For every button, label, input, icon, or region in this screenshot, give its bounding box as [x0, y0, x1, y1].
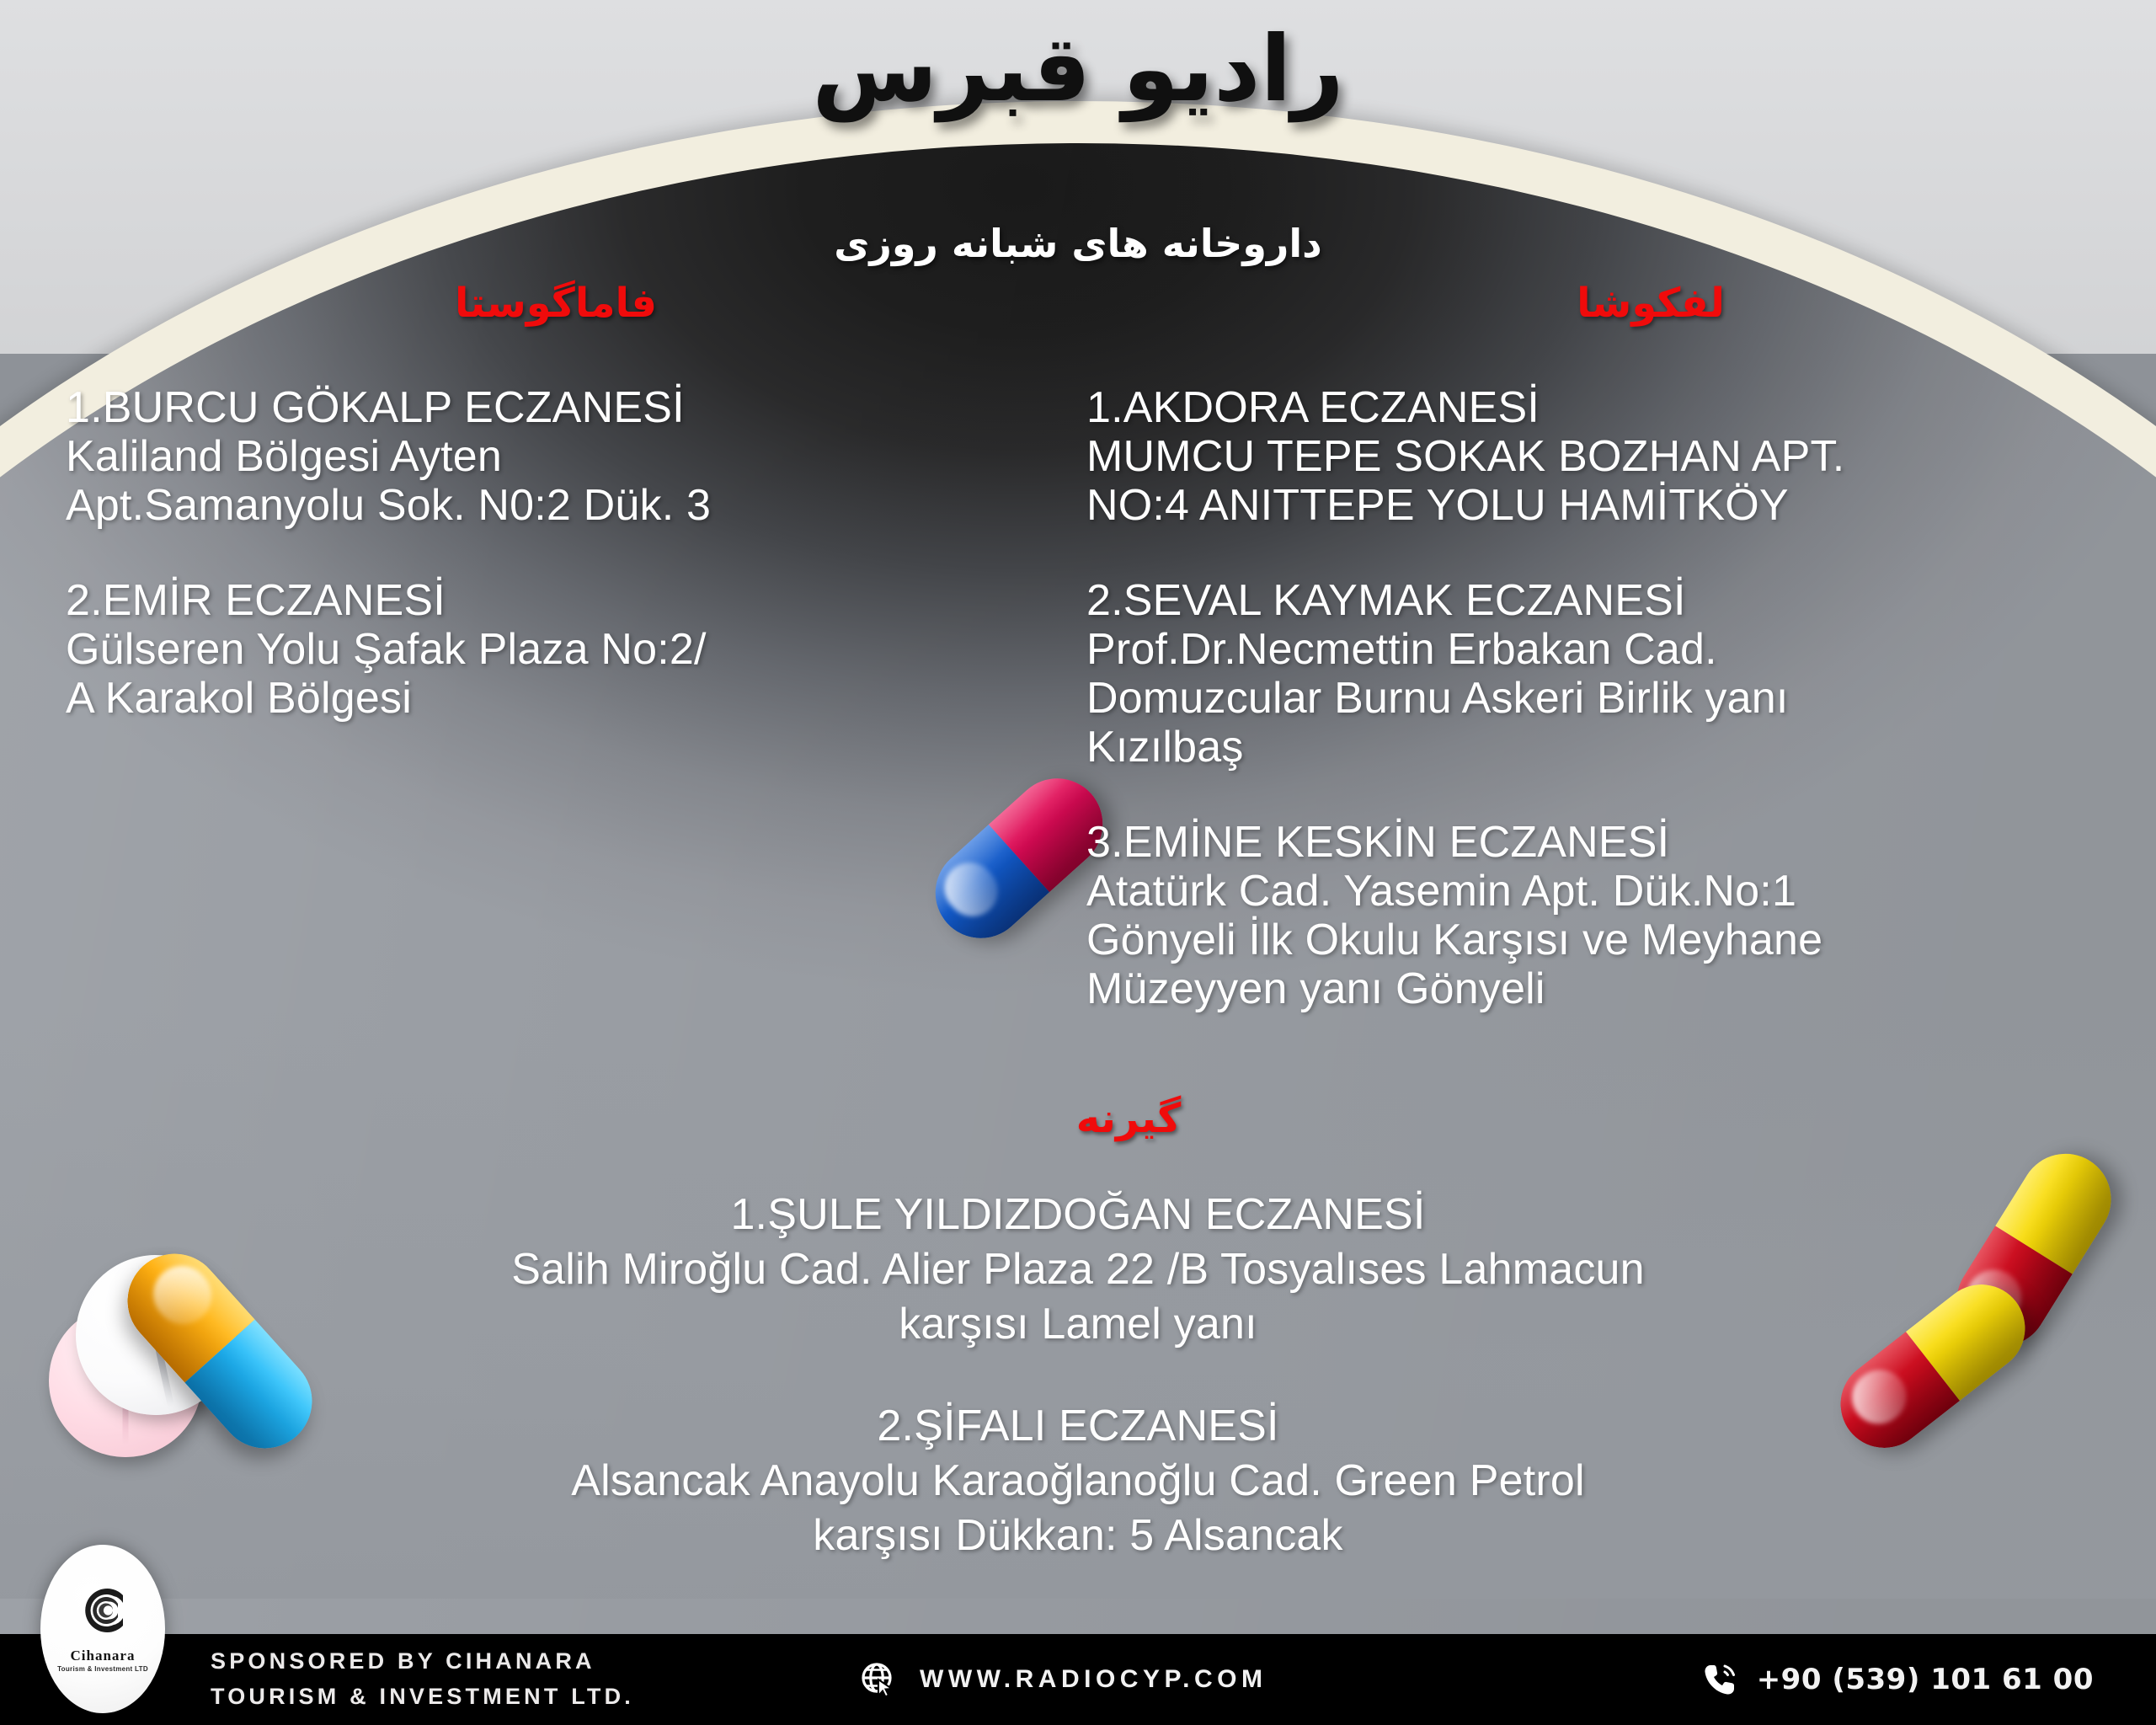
pharmacy-entry: 3.EMİNE KESKİN ECZANESİ Atatürk Cad. Yas…	[1086, 818, 2148, 1014]
pharmacy-address-line: Domuzcular Burnu Askeri Birlik yanı	[1086, 674, 2148, 723]
website-text: WWW.RADIOCYP.COM	[920, 1665, 1267, 1694]
website-link[interactable]: WWW.RADIOCYP.COM	[859, 1660, 1267, 1699]
pharmacy-address-line: Apt.Samanyolu Sok. N0:2 Dük. 3	[66, 481, 1059, 530]
pharmacy-entry: 1.BURCU GÖKALP ECZANESİ Kaliland Bölgesi…	[66, 383, 1059, 531]
pharmacy-address-line: Alsancak Anayolu Karaoğlanoğlu Cad. Gree…	[185, 1454, 1971, 1509]
pharmacy-address-line: Gülseren Yolu Şafak Plaza No:2/	[66, 625, 1059, 674]
pharmacy-address-line: Müzeyyen yanı Gönyeli	[1086, 964, 2148, 1013]
pharmacy-address-line: Salih Miroğlu Cad. Alier Plaza 22 /B Tos…	[185, 1242, 1971, 1297]
pharmacy-entry: 2.EMİR ECZANESİ Gülseren Yolu Şafak Plaz…	[66, 576, 1059, 724]
pharmacy-address-line: NO:4 ANITTEPE YOLU HAMİTKÖY	[1086, 481, 2148, 530]
pharmacy-poster: راديو قبرس داروخانه های شبانه روزی فاماگ…	[0, 0, 2156, 1725]
pharmacy-list-girne: 1.ŞULE YILDIZDOĞAN ECZANESİ Salih Miroğl…	[185, 1188, 1971, 1610]
pharmacy-name: 2.SEVAL KAYMAK ECZANESİ	[1086, 576, 2148, 625]
pharmacy-name: 1.BURCU GÖKALP ECZANESİ	[66, 383, 1059, 432]
pharmacy-entry: 1.ŞULE YILDIZDOĞAN ECZANESİ Salih Miroğl…	[185, 1188, 1971, 1352]
pharmacy-name: 1.AKDORA ECZANESİ	[1086, 383, 2148, 432]
pharmacy-list-famagusta: 1.BURCU GÖKALP ECZANESİ Kaliland Bölgesi…	[66, 383, 1059, 723]
pharmacy-list-lefkosa: 1.AKDORA ECZANESİ MUMCU TEPE SOKAK BOZHA…	[1086, 383, 2148, 1014]
page-subtitle: داروخانه های شبانه روزی	[0, 221, 2156, 266]
pharmacy-address-line: Kızılbaş	[1086, 723, 2148, 772]
phone-number: +90 (539) 101 61 00	[1757, 1663, 2094, 1696]
pharmacy-entry: 1.AKDORA ECZANESİ MUMCU TEPE SOKAK BOZHA…	[1086, 383, 2148, 531]
logo-subtitle-text: Tourism & Investment LTD	[57, 1665, 148, 1673]
sponsor-text: SPONSORED BY CIHANARA TOURISM & INVESTME…	[211, 1644, 634, 1715]
pharmacy-entry: 2.ŞİFALI ECZANESİ Alsancak Anayolu Karao…	[185, 1399, 1971, 1563]
pharmacy-entry: 2.SEVAL KAYMAK ECZANESİ Prof.Dr.Necmetti…	[1086, 576, 2148, 772]
cihanara-logo: Cihanara Tourism & Investment LTD	[40, 1545, 165, 1713]
spiral-c-icon	[71, 1578, 135, 1642]
section-heading-lefkosa: لفكوشا	[1482, 280, 1819, 327]
section-heading-girne: گیرنه	[977, 1095, 1280, 1142]
pharmacy-address-line: karşısı Lamel yanı	[185, 1297, 1971, 1352]
pharmacy-name: 3.EMİNE KESKİN ECZANESİ	[1086, 818, 2148, 867]
page-title: راديو قبرس	[0, 17, 2156, 122]
pharmacy-address-line: Kaliland Bölgesi Ayten	[66, 432, 1059, 481]
pharmacy-name: 2.EMİR ECZANESİ	[66, 576, 1059, 625]
pharmacy-address-line: Prof.Dr.Necmettin Erbakan Cad.	[1086, 625, 2148, 674]
pharmacy-address-line: karşısı Dükkan: 5 Alsancak	[185, 1509, 1971, 1563]
pharmacy-address-line: Atatürk Cad. Yasemin Apt. Dük.No:1	[1086, 867, 2148, 916]
pharmacy-name: 2.ŞİFALI ECZANESİ	[185, 1399, 1971, 1454]
globe-cursor-icon	[859, 1660, 898, 1699]
sponsor-line-2: TOURISM & INVESTMENT LTD.	[211, 1680, 634, 1715]
pharmacy-name: 1.ŞULE YILDIZDOĞAN ECZANESİ	[185, 1188, 1971, 1242]
pharmacy-address-line: A Karakol Bölgesi	[66, 674, 1059, 723]
logo-name-text: Cihanara	[71, 1648, 136, 1664]
pharmacy-address-line: MUMCU TEPE SOKAK BOZHAN APT.	[1086, 432, 2148, 481]
phone-icon	[1701, 1661, 1738, 1698]
sponsor-line-1: SPONSORED BY CIHANARA	[211, 1644, 634, 1680]
phone-contact[interactable]: +90 (539) 101 61 00	[1701, 1661, 2094, 1698]
pharmacy-address-line: Gönyeli İlk Okulu Karşısı ve Meyhane	[1086, 916, 2148, 964]
footer-bar: SPONSORED BY CIHANARA TOURISM & INVESTME…	[0, 1634, 2156, 1725]
section-heading-famagusta: فاماگوستا	[387, 280, 724, 327]
